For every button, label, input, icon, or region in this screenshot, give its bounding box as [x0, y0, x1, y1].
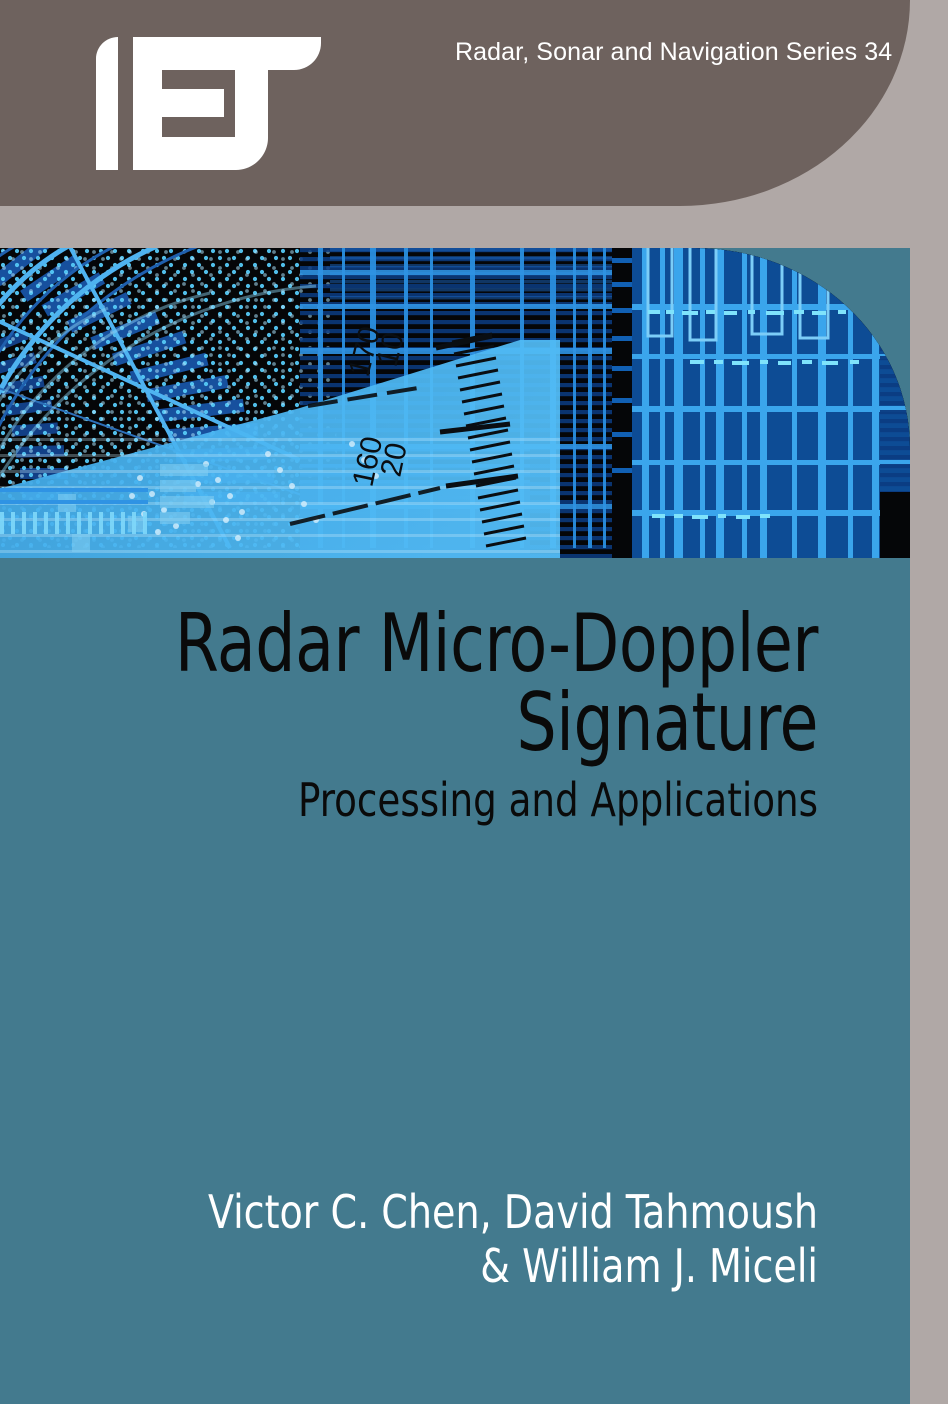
- book-subtitle: Processing and Applications: [136, 776, 818, 824]
- iet-logo: [96, 37, 321, 170]
- circuit-panel-right: [612, 248, 910, 558]
- cover-artwork: 10 170 20 160: [0, 248, 910, 558]
- book-authors: Victor C. Chen, David Tahmoush & William…: [0, 1186, 910, 1294]
- radar-display-graphic: 10 170 20 160: [0, 248, 910, 558]
- gap-strip: [0, 206, 910, 248]
- book-title: Radar Micro-Doppler Signature Processing…: [0, 604, 910, 825]
- series-label: Radar, Sonar and Navigation Series 34: [455, 38, 892, 67]
- author-line-1: Victor C. Chen, David Tahmoush: [121, 1186, 818, 1240]
- title-line-2: Signature: [151, 683, 818, 762]
- book-cover: 10 170 20 160 Radar, Sonar and Navigatio…: [0, 0, 948, 1404]
- iet-logo-icon: [96, 37, 321, 170]
- author-line-2: & William J. Miceli: [121, 1240, 818, 1294]
- title-line-1: Radar Micro-Doppler: [151, 604, 818, 683]
